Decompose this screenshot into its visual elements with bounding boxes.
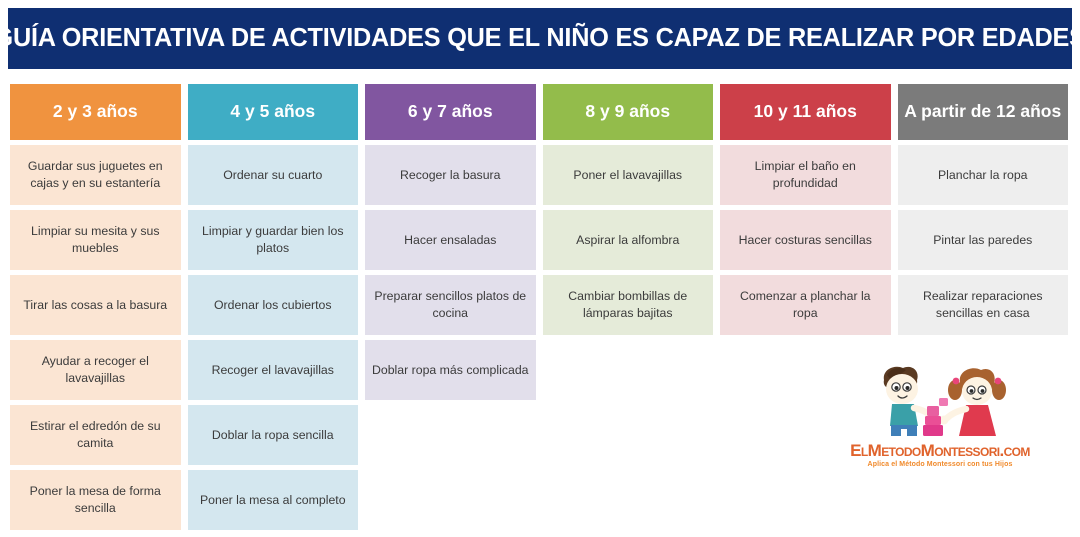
column-header[interactable]: A partir de 12 años [898, 84, 1069, 140]
column-header[interactable]: 8 y 9 años [543, 84, 714, 140]
age-column: 4 y 5 añosOrdenar su cuartoLimpiar y gua… [188, 84, 359, 530]
activity-cell: Ordenar los cubiertos [188, 275, 359, 335]
page-title: GUÍA ORIENTATIVA DE ACTIVIDADES QUE EL N… [0, 25, 1080, 52]
activity-cell: Ordenar su cuarto [188, 145, 359, 205]
activity-cell: Limpiar su mesita y sus muebles [10, 210, 181, 270]
activity-cell: Pintar las paredes [898, 210, 1069, 270]
column-header[interactable]: 2 y 3 años [10, 84, 181, 140]
activity-cell: Guardar sus juguetes en cajas y en su es… [10, 145, 181, 205]
empty-cell [543, 470, 714, 530]
column-header[interactable]: 6 y 7 años [365, 84, 536, 140]
column-header[interactable]: 4 y 5 años [188, 84, 359, 140]
activity-cell: Planchar la ropa [898, 145, 1069, 205]
activity-cell: Estirar el edredón de su camita [10, 405, 181, 465]
age-column: 8 y 9 añosPoner el lavavajillasAspirar l… [543, 84, 714, 530]
activity-cell: Ayudar a recoger el lavavajillas [10, 340, 181, 400]
activity-cell: Poner la mesa al completo [188, 470, 359, 530]
activity-cell: Recoger la basura [365, 145, 536, 205]
infographic-page: GUÍA ORIENTATIVA DE ACTIVIDADES QUE EL N… [0, 0, 1080, 537]
activity-cell: Tirar las cosas a la basura [10, 275, 181, 335]
activity-cell: Poner la mesa de forma sencilla [10, 470, 181, 530]
empty-cell [365, 405, 536, 465]
activity-cell: Doblar ropa más complicada [365, 340, 536, 400]
activity-cell: Cambiar bombillas de lámparas bajitas [543, 275, 714, 335]
empty-cell [898, 470, 1069, 530]
empty-cell [543, 405, 714, 465]
activity-cell: Preparar sencillos platos de cocina [365, 275, 536, 335]
activity-cell: Comenzar a planchar la ropa [720, 275, 891, 335]
activity-cell: Realizar reparaciones sencillas en casa [898, 275, 1069, 335]
title-banner: GUÍA ORIENTATIVA DE ACTIVIDADES QUE EL N… [8, 8, 1072, 69]
activity-cell: Poner el lavavajillas [543, 145, 714, 205]
activity-cell: Hacer ensaladas [365, 210, 536, 270]
activity-cell: Recoger el lavavajillas [188, 340, 359, 400]
column-header[interactable]: 10 y 11 años [720, 84, 891, 140]
empty-cell [720, 470, 891, 530]
montessori-kids-illustration [860, 362, 1020, 442]
activity-cell: Limpiar el baño en profundidad [720, 145, 891, 205]
activity-cell: Doblar la ropa sencilla [188, 405, 359, 465]
activity-cell: Hacer costuras sencillas [720, 210, 891, 270]
empty-cell [543, 340, 714, 400]
logo-wordmark: ElMetodoMontessori.com [849, 441, 1031, 461]
brand-logo[interactable]: ElMetodoMontessori.com Aplica el Método … [846, 362, 1032, 477]
age-column: 6 y 7 añosRecoger la basuraHacer ensalad… [365, 84, 536, 530]
activity-cell: Aspirar la alfombra [543, 210, 714, 270]
empty-cell [365, 470, 536, 530]
age-column: 2 y 3 añosGuardar sus juguetes en cajas … [10, 84, 181, 530]
activity-cell: Limpiar y guardar bien los platos [188, 210, 359, 270]
logo-tagline: Aplica el Método Montessori con tus Hijo… [849, 461, 1031, 468]
